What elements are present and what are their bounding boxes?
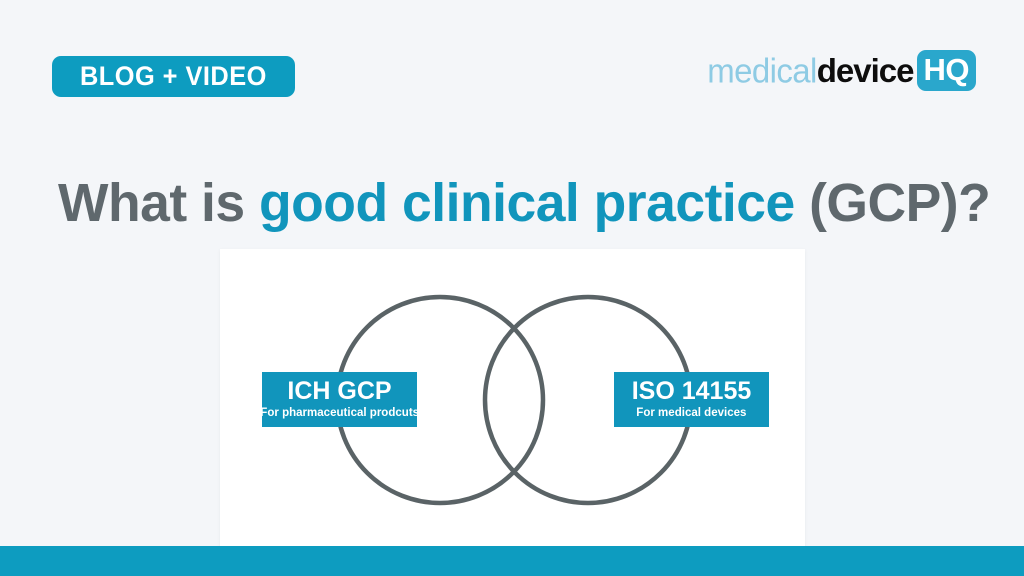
page-title: What is good clinical practice (GCP)? <box>58 172 999 234</box>
logo-hq-badge: HQ <box>917 50 977 91</box>
logo-medical-text: medical <box>707 53 817 88</box>
slide-canvas: BLOG + VIDEO medicaldeviceHQ What is goo… <box>0 0 1024 576</box>
ich-gcp-label: ICH GCP For pharmaceutical prodcuts <box>262 372 417 427</box>
ich-gcp-label-title: ICH GCP <box>287 378 391 405</box>
iso-14155-label-title: ISO 14155 <box>632 378 752 405</box>
iso-14155-label-subtitle: For medical devices <box>636 405 746 420</box>
blog-video-badge-label: BLOG + VIDEO <box>80 63 267 90</box>
page-title-segment-three: (GCP)? <box>795 173 991 233</box>
bottom-accent-bar <box>0 546 1024 576</box>
logo-device-text: device <box>817 54 914 87</box>
page-title-segment-one: What is <box>58 173 259 233</box>
ich-gcp-label-subtitle: For pharmaceutical prodcuts <box>260 405 419 420</box>
venn-diagram-card: ICH GCP For pharmaceutical prodcuts ISO … <box>220 249 805 551</box>
page-title-segment-two: good clinical practice <box>259 173 795 233</box>
blog-video-badge[interactable]: BLOG + VIDEO <box>52 56 295 97</box>
medicaldevicehq-logo[interactable]: medicaldeviceHQ <box>707 50 976 90</box>
iso-14155-label: ISO 14155 For medical devices <box>614 372 769 427</box>
